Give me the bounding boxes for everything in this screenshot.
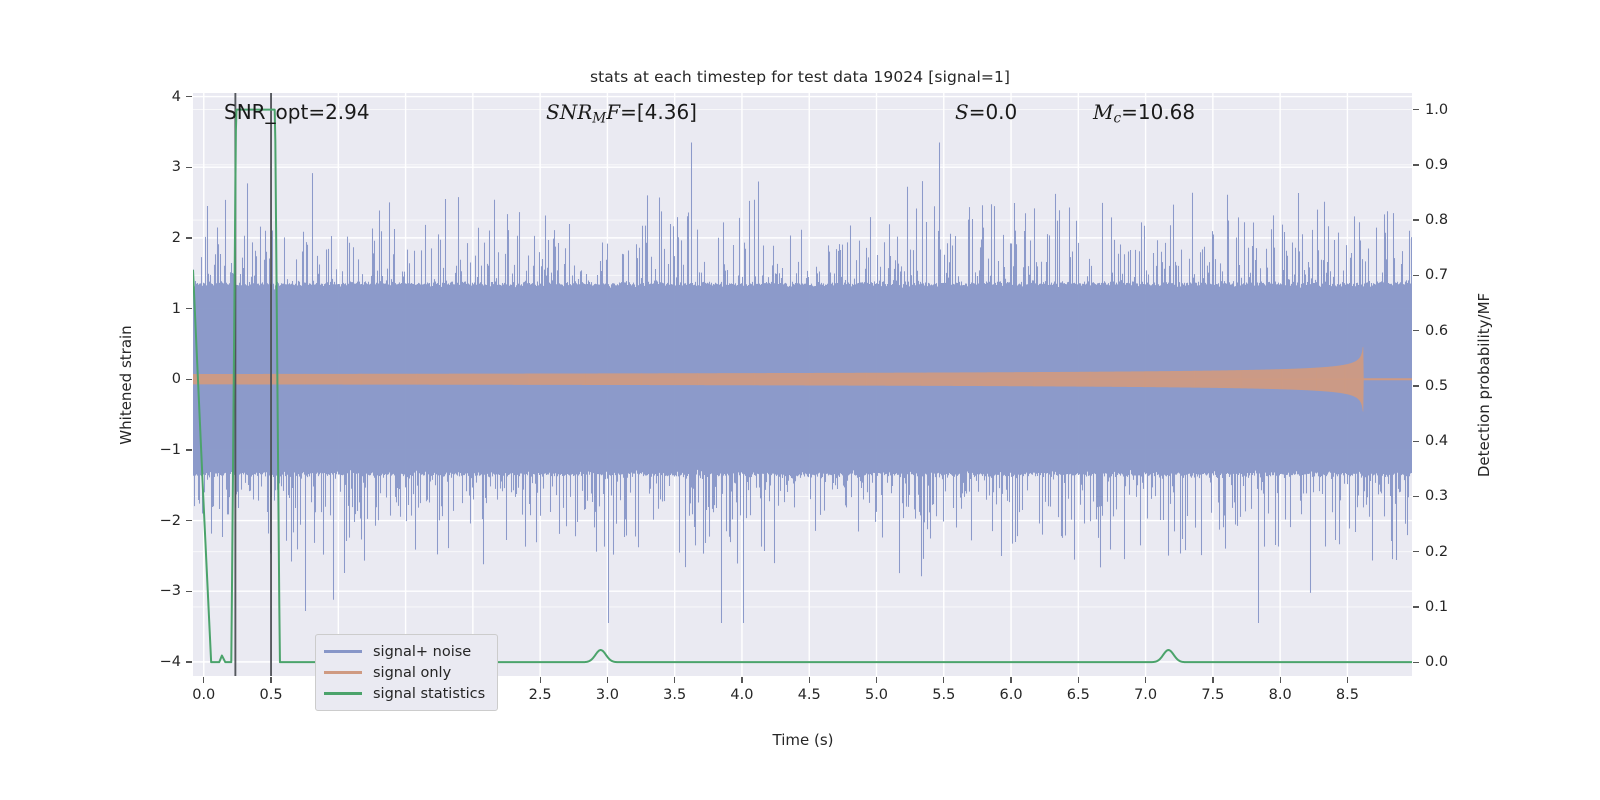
annotation-chirp-mass: Mc=10.68 (1093, 100, 1195, 126)
y-tick-right (1413, 275, 1419, 276)
x-tick (607, 677, 608, 683)
y-tick-label-right: 0.4 (1425, 433, 1448, 449)
y-tick-right (1413, 606, 1419, 607)
y-tick-right (1413, 385, 1419, 386)
legend-item-1[interactable]: signal only (324, 662, 485, 683)
y-tick-right (1413, 441, 1419, 442)
x-tick-label: 2.5 (529, 687, 552, 703)
x-tick (1280, 677, 1281, 683)
y-tick-label-right: 0.8 (1425, 212, 1448, 228)
y-tick-left (186, 237, 192, 238)
x-tick (674, 677, 675, 683)
legend-color-swatch (324, 692, 362, 694)
legend-item-0[interactable]: signal+ noise (324, 641, 485, 662)
y-tick-label-right: 0.3 (1425, 488, 1448, 504)
y-tick-label-right: 0.2 (1425, 544, 1448, 560)
y-tick-label-left: 4 (172, 89, 181, 105)
y-tick-right (1413, 662, 1419, 663)
annotation-text: S (955, 100, 969, 124)
x-tick-label: 6.5 (1067, 687, 1090, 703)
x-tick (741, 677, 742, 683)
x-axis-label: Time (s) (773, 731, 834, 749)
x-tick-label: 7.0 (1134, 687, 1157, 703)
y-tick-right (1413, 330, 1419, 331)
x-tick (1145, 677, 1146, 683)
x-tick-label: 8.0 (1269, 687, 1292, 703)
x-tick (1347, 677, 1348, 683)
y-tick-label-right: 0.0 (1425, 654, 1448, 670)
x-tick-label: 3.5 (663, 687, 686, 703)
x-tick (809, 677, 810, 683)
y-tick-right (1413, 219, 1419, 220)
x-tick (943, 677, 944, 683)
legend-item-2[interactable]: signal statistics (324, 683, 485, 704)
y-tick-label-left: 2 (172, 230, 181, 246)
annotation-snr-opt: SNR_opt=2.94 (224, 100, 370, 124)
x-tick-label: 3.0 (596, 687, 619, 703)
y-tick-label-left: 1 (172, 301, 181, 317)
annotation-snr-mf: SNRMF=[4.36] (546, 100, 697, 126)
x-tick (203, 677, 204, 683)
y-tick-label-right: 0.5 (1425, 378, 1448, 394)
figure-canvas: stats at each timestep for test data 190… (0, 0, 1600, 800)
y-tick-label-left: −3 (160, 583, 181, 599)
x-tick-label: 8.5 (1336, 687, 1359, 703)
x-tick (1010, 677, 1011, 683)
y-tick-label-left: −4 (160, 654, 181, 670)
y-tick-right (1413, 551, 1419, 552)
y-tick-label-left: 0 (172, 371, 181, 387)
annotation-value: =0.0 (969, 100, 1018, 124)
y-tick-label-right: 1.0 (1425, 102, 1448, 118)
page-title: stats at each timestep for test data 190… (0, 68, 1600, 86)
annotation-text: SNR_opt=2.94 (224, 100, 370, 124)
plot-area (193, 93, 1412, 676)
x-tick-label: 4.0 (730, 687, 753, 703)
legend-label: signal only (373, 665, 451, 681)
x-tick-label: 5.0 (865, 687, 888, 703)
y-tick-label-right: 0.1 (1425, 599, 1448, 615)
y-tick-label-right: 0.9 (1425, 157, 1448, 173)
y-tick-right (1413, 109, 1419, 110)
x-tick (1078, 677, 1079, 683)
y-tick-right (1413, 164, 1419, 165)
x-tick (270, 677, 271, 683)
annotation-value: =[4.36] (620, 100, 697, 124)
x-tick-label: 6.0 (1000, 687, 1023, 703)
y-tick-right (1413, 496, 1419, 497)
y-axis-right-label: Detection probability/MF (1475, 293, 1493, 477)
plot-svg (193, 93, 1412, 676)
y-tick-left (186, 520, 192, 521)
x-tick-label: 5.5 (932, 687, 955, 703)
x-tick-label: 0.5 (260, 687, 283, 703)
y-tick-label-right: 0.7 (1425, 267, 1448, 283)
y-tick-label-right: 0.6 (1425, 323, 1448, 339)
y-tick-label-left: −1 (160, 442, 181, 458)
y-tick-left (186, 661, 192, 662)
y-tick-left (186, 308, 192, 309)
y-tick-left (186, 379, 192, 380)
x-tick-label: 0.0 (192, 687, 215, 703)
x-tick (876, 677, 877, 683)
x-tick-label: 4.5 (798, 687, 821, 703)
y-axis-left-label: Whitened strain (117, 325, 135, 444)
annotation-value: =10.68 (1121, 100, 1195, 124)
x-tick (1212, 677, 1213, 683)
legend: signal+ noisesignal onlysignal statistic… (315, 634, 498, 711)
legend-label: signal statistics (373, 686, 485, 702)
x-tick-label: 7.5 (1201, 687, 1224, 703)
annotation-s-statistic: S=0.0 (955, 100, 1017, 124)
annotation-text: Mc (1093, 100, 1121, 124)
y-tick-label-left: −2 (160, 513, 181, 529)
y-tick-left (186, 591, 192, 592)
y-tick-left (186, 449, 192, 450)
annotation-text: SNRMF (546, 100, 620, 124)
legend-label: signal+ noise (373, 644, 471, 660)
y-tick-left (186, 167, 192, 168)
legend-color-swatch (324, 650, 362, 652)
y-tick-label-left: 3 (172, 159, 181, 175)
y-tick-left (186, 96, 192, 97)
x-tick (540, 677, 541, 683)
legend-color-swatch (324, 671, 362, 673)
